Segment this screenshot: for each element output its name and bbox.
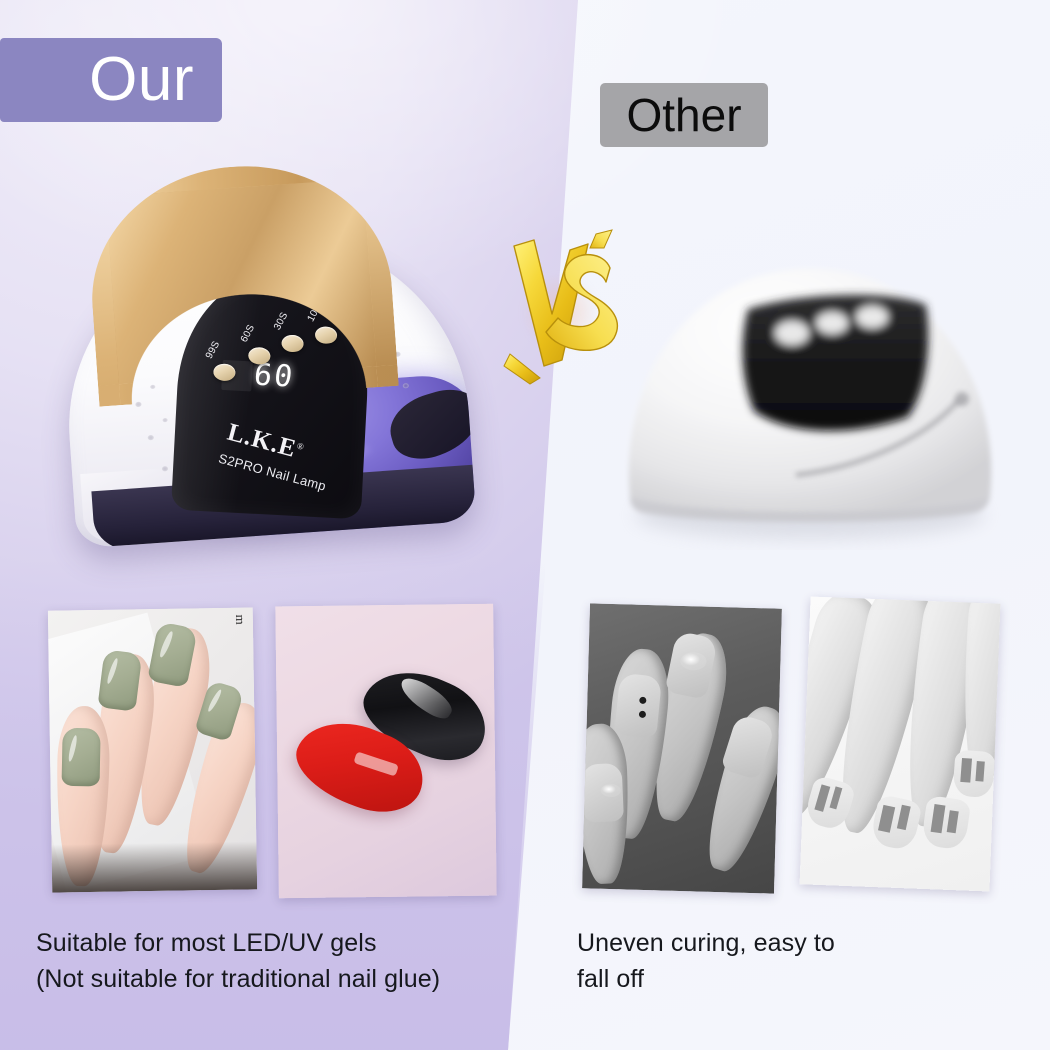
registered-mark-icon: ® bbox=[296, 440, 306, 452]
other-nail-lamp bbox=[596, 205, 1016, 550]
thumbnail-red-black-pressons bbox=[275, 604, 497, 899]
other-lamp-control-panel bbox=[743, 295, 929, 431]
thumbnail-damaged-nails-gray bbox=[582, 603, 782, 893]
our-nail-lamp: 60 L.K.E® S2PRO Nail Lamp 99S 60S 30S bbox=[42, 151, 489, 579]
thumbnail-watermark: m bbox=[232, 614, 248, 624]
caption-our: Suitable for most LED/UV gels (Not suita… bbox=[36, 925, 440, 998]
lamp-gold-handle bbox=[83, 156, 398, 406]
badge-other: Other bbox=[600, 83, 768, 147]
other-button-2 bbox=[816, 312, 848, 334]
thumbnail-chipped-polish-gray bbox=[800, 596, 1001, 891]
comparison-infographic: Our Other bbox=[0, 0, 1050, 1050]
other-button-3 bbox=[856, 306, 888, 328]
thumbnail-sage-green-manicure: m bbox=[48, 607, 257, 892]
badge-other-label: Other bbox=[626, 92, 741, 138]
badge-our: Our bbox=[0, 38, 222, 122]
caption-other: Uneven curing, easy to fall off bbox=[577, 925, 850, 998]
other-lamp-hinge bbox=[955, 392, 969, 406]
other-button-1 bbox=[775, 321, 809, 345]
badge-our-label: Our bbox=[89, 49, 194, 111]
